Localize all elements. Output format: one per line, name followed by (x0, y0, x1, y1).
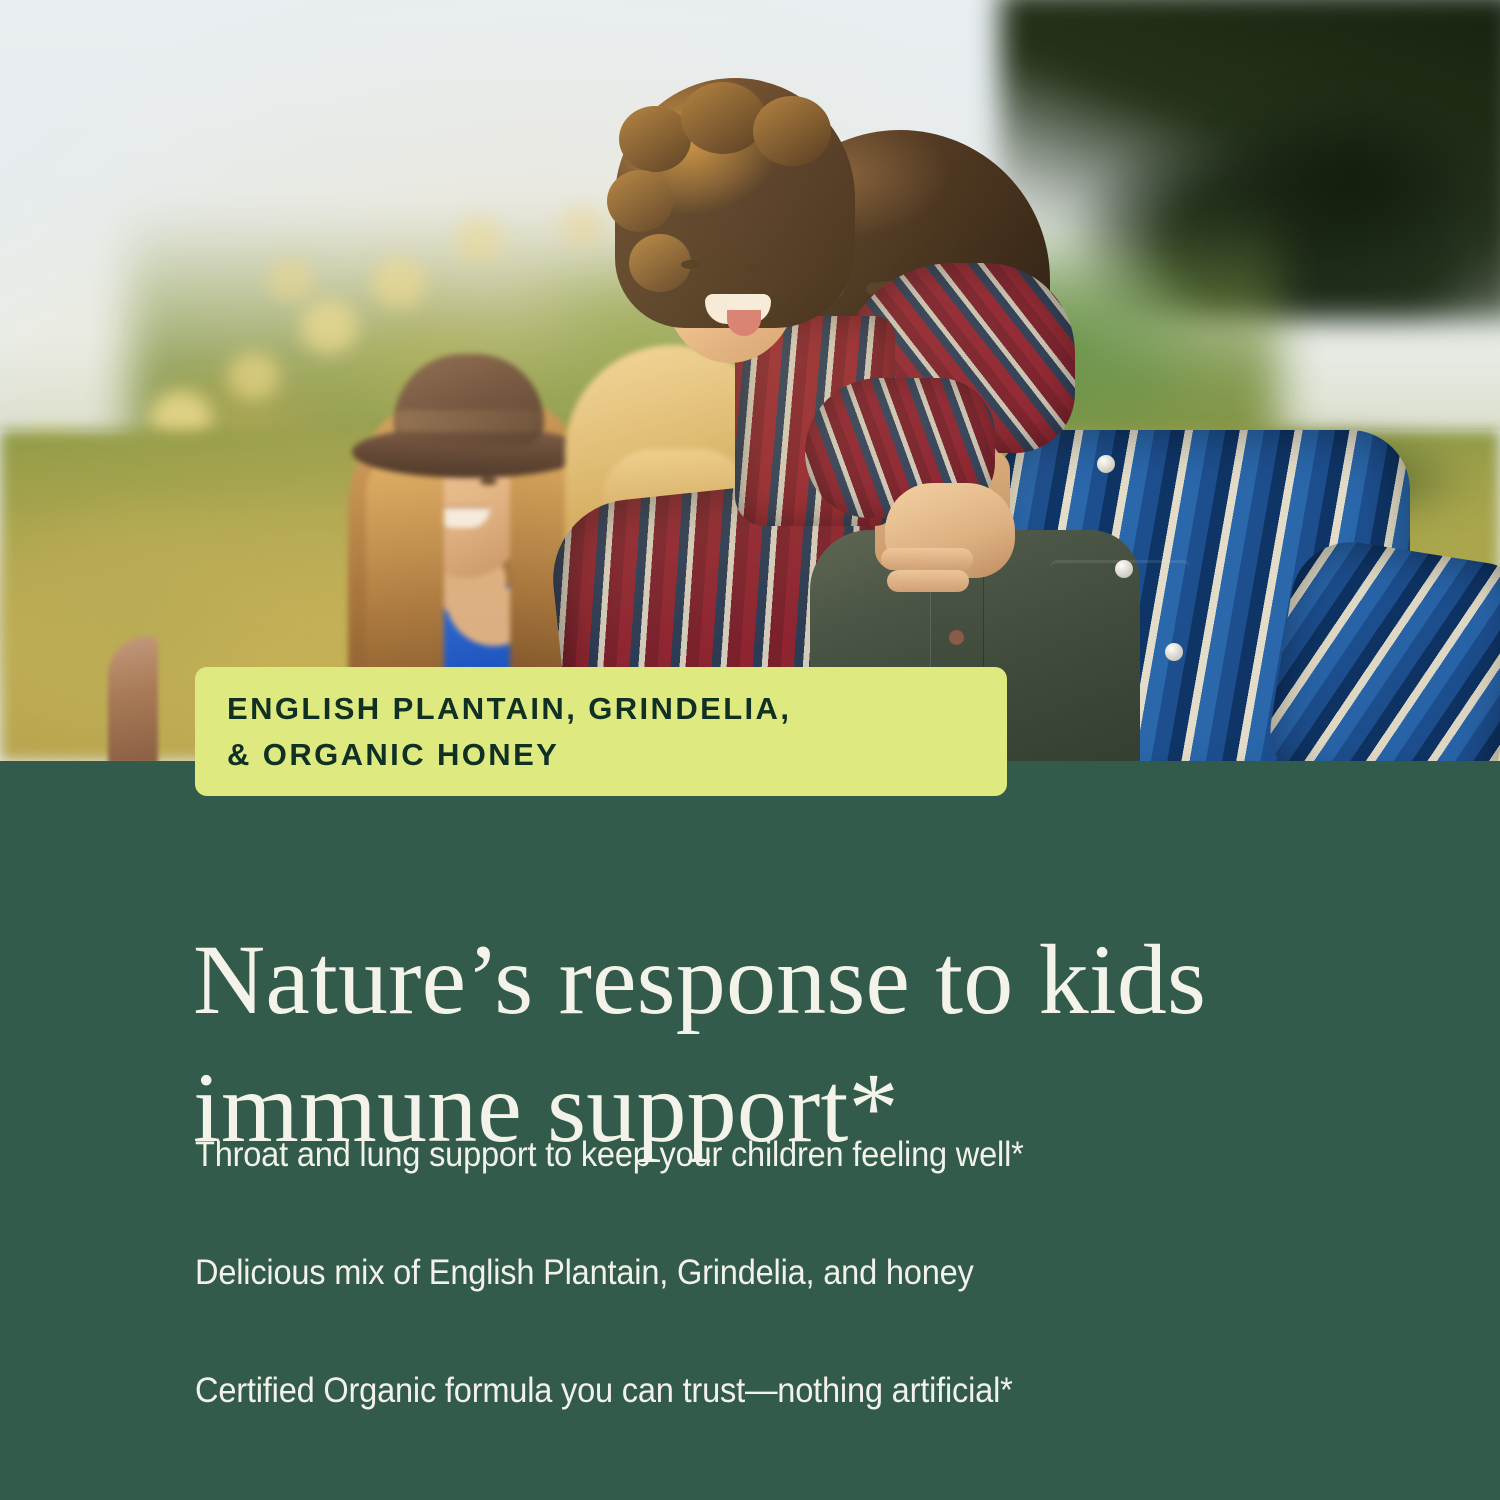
boy-hair-curl (753, 96, 831, 166)
list-item: Throat and lung support to keep your chi… (195, 1133, 1339, 1177)
bokeh-highlight (372, 258, 426, 308)
bokeh-highlight (228, 352, 280, 400)
boy-eye-right (745, 264, 764, 273)
boy-figure (585, 78, 1145, 718)
badge-line-1: ENGLISH PLANTAIN, GRINDELIA, (227, 686, 1007, 732)
hero-photo (0, 0, 1500, 761)
bokeh-highlight (455, 218, 503, 262)
badge-line-2: & ORGANIC HONEY (227, 732, 1007, 778)
ingredients-badge: ENGLISH PLANTAIN, GRINDELIA, & ORGANIC H… (195, 667, 1007, 796)
green-content-panel: Nature’s response to kids immune support… (0, 761, 1500, 1500)
product-marketing-card: ENGLISH PLANTAIN, GRINDELIA, & ORGANIC H… (0, 0, 1500, 1500)
bokeh-highlight (268, 258, 314, 302)
boy-eye-left (681, 260, 700, 269)
hat-crown (394, 354, 544, 446)
benefit-list: Throat and lung support to keep your chi… (195, 1133, 1425, 1413)
boy-hair-curl (681, 82, 765, 154)
hat-band (396, 410, 542, 432)
wicker-chair (108, 636, 158, 761)
list-item: Delicious mix of English Plantain, Grind… (195, 1251, 1339, 1295)
woman-eye-right (480, 478, 497, 485)
boy-finger (881, 548, 973, 570)
list-item: Certified Organic formula you can trust—… (195, 1369, 1339, 1413)
boy-finger (887, 570, 969, 592)
boy-hair-curl (607, 170, 673, 232)
